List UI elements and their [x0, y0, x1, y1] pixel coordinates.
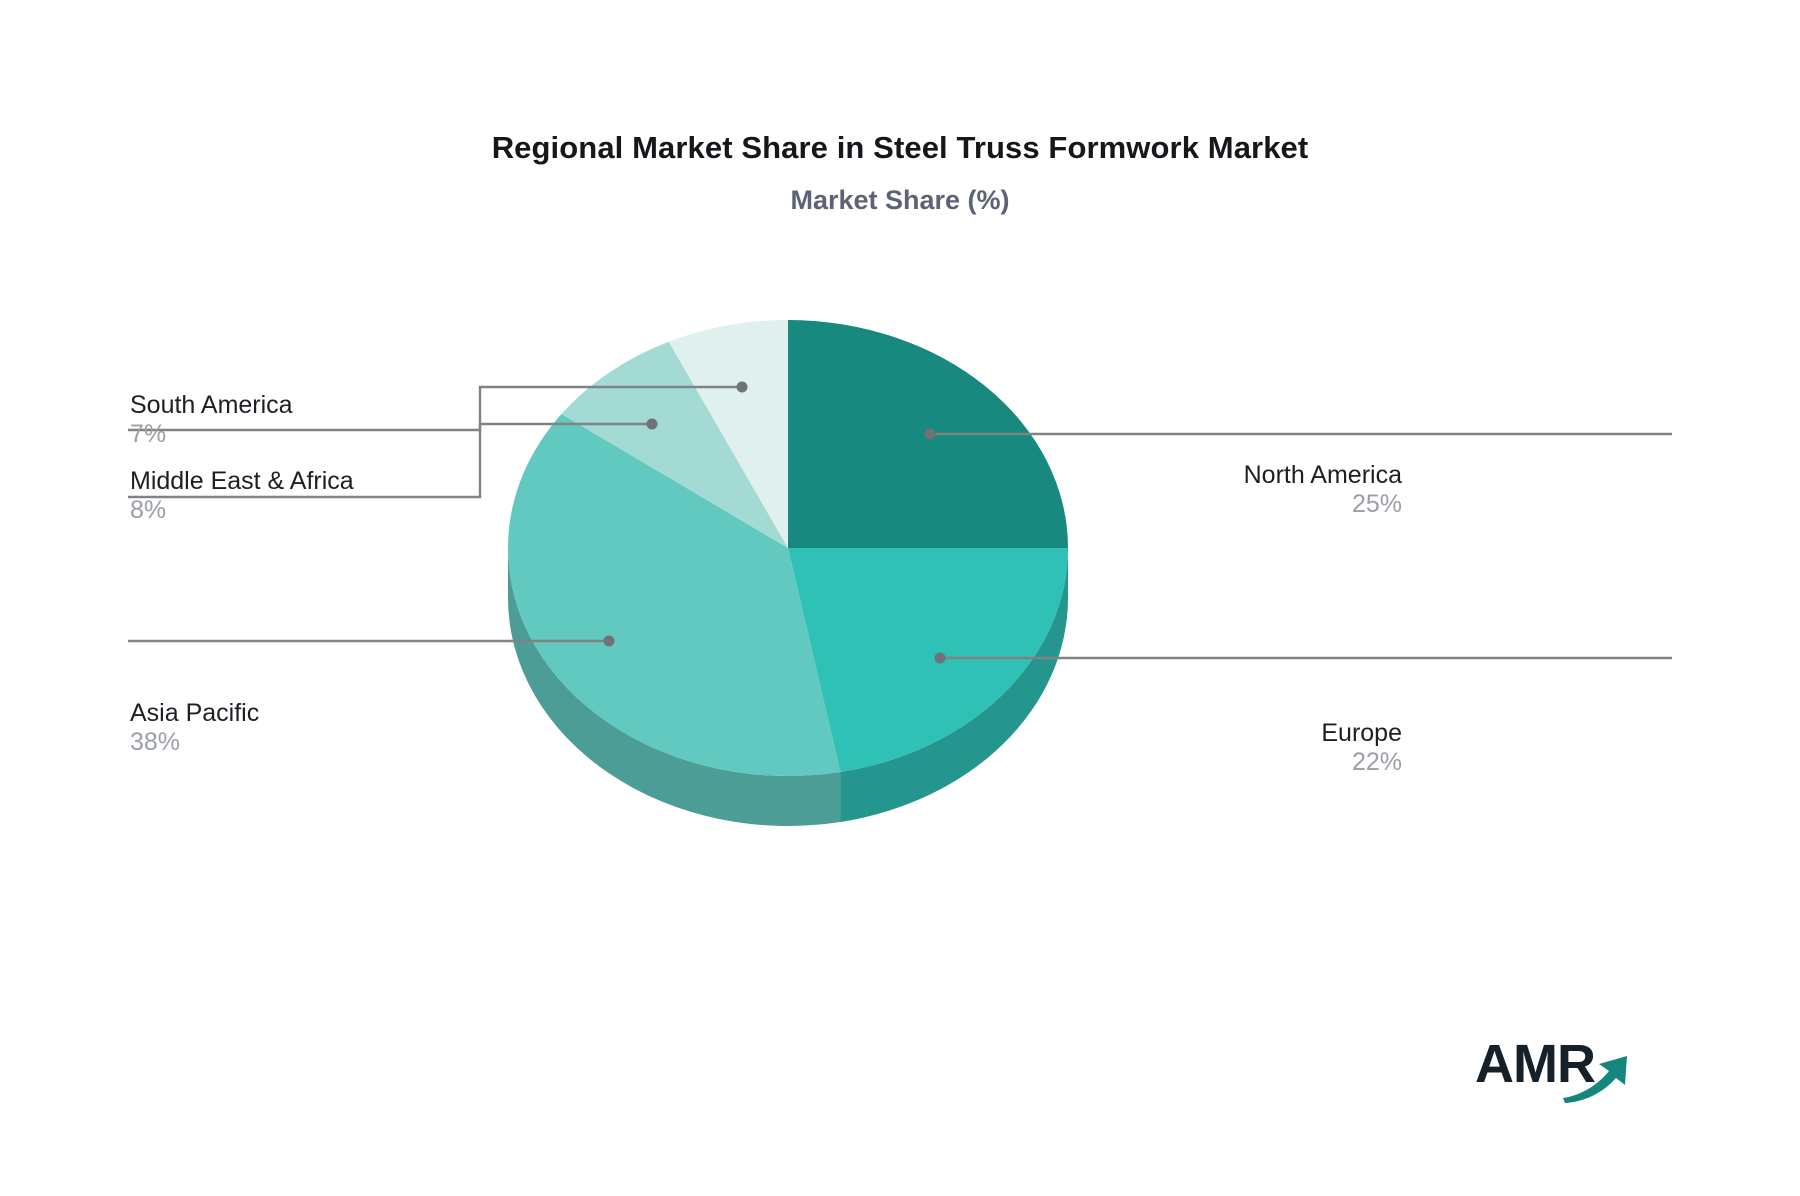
callout-value-europe: 22%	[1321, 747, 1402, 778]
callout-value-asia-pacific: 38%	[130, 727, 259, 758]
pie-depth-europe	[840, 548, 1068, 822]
callout-value-middle-east-africa: 8%	[130, 495, 354, 526]
callout-value-south-america: 7%	[130, 419, 293, 450]
callout-north-america: North America 25%	[1244, 462, 1402, 520]
leader-dot-asia-pacific	[604, 636, 615, 647]
callout-value-north-america: 25%	[1244, 489, 1402, 520]
callout-label-north-america: North America	[1244, 462, 1402, 489]
chart-canvas: Regional Market Share in Steel Truss For…	[0, 0, 1800, 1196]
leader-dot-south-america	[737, 382, 748, 393]
callout-label-south-america: South America	[130, 392, 293, 419]
chart-subtitle: Market Share (%)	[0, 185, 1800, 216]
leader-dot-middle-east-africa	[647, 419, 658, 430]
pie-slice-south-america[interactable]	[669, 320, 788, 548]
callout-south-america: South America 7%	[130, 392, 293, 450]
callout-asia-pacific: Asia Pacific 38%	[130, 700, 259, 758]
pie-slices-group	[508, 320, 1068, 776]
leader-dot-europe	[935, 653, 946, 664]
chart-title: Regional Market Share in Steel Truss For…	[0, 130, 1800, 166]
pie-chart-svg	[0, 0, 1800, 1196]
pie-depth-group	[508, 548, 1068, 826]
pie-slice-asia-pacific[interactable]	[508, 414, 840, 776]
callout-europe: Europe 22%	[1321, 720, 1402, 778]
pie-depth-asia-pacific	[508, 548, 840, 826]
amr-logo: AMR	[1475, 1030, 1645, 1105]
amr-logo-text: AMR	[1475, 1034, 1595, 1094]
leader-dots-group	[604, 382, 946, 664]
pie-slice-europe[interactable]	[788, 548, 1068, 772]
leader-dot-north-america	[925, 429, 936, 440]
leader-lines-group	[128, 387, 1672, 658]
callout-label-asia-pacific: Asia Pacific	[130, 700, 259, 727]
pie-chart-area	[0, 0, 1800, 1196]
callout-middle-east-africa: Middle East & Africa 8%	[130, 468, 354, 526]
pie-slice-middle-east-africa[interactable]	[561, 342, 788, 548]
callout-label-middle-east-africa: Middle East & Africa	[130, 468, 354, 495]
callout-label-europe: Europe	[1321, 720, 1402, 747]
amr-logo-svg: AMR	[1475, 1030, 1645, 1105]
pie-slice-north-america[interactable]	[788, 320, 1068, 548]
